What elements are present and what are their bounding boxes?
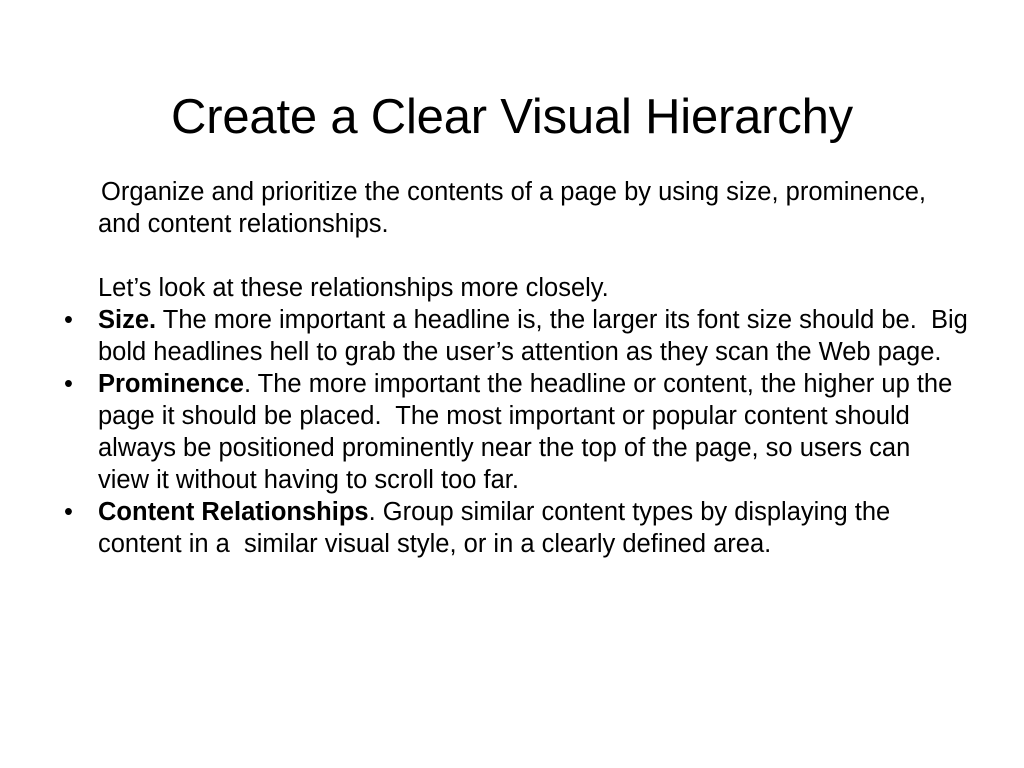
list-item-text: Prominence. The more important the headl… (98, 368, 968, 496)
list-item-term: Content Relationships (98, 498, 369, 526)
slide-body: Organize and prioritize the contents of … (56, 176, 968, 560)
list-item-text: Content Relationships. Group similar con… (98, 496, 968, 560)
list-item-text: Size. The more important a headline is, … (98, 304, 968, 368)
list-item: • Content Relationships. Group similar c… (56, 496, 968, 560)
bullet-point-icon: • (64, 496, 80, 528)
list-item-term: Size. (98, 306, 156, 334)
list-item-body: The more important a headline is, the la… (98, 306, 975, 366)
list-item-term: Prominence (98, 370, 244, 398)
intro-paragraph: Organize and prioritize the contents of … (56, 176, 968, 240)
bullet-point-icon: • (64, 304, 80, 336)
lead-in-paragraph: Let’s look at these relationships more c… (56, 272, 968, 304)
slide-canvas: Create a Clear Visual Hierarchy Organize… (0, 0, 1024, 768)
bullet-list: • Size. The more important a headline is… (56, 304, 968, 560)
bullet-point-icon: • (64, 368, 80, 400)
list-item: • Size. The more important a headline is… (56, 304, 968, 368)
paragraph-spacer (56, 240, 968, 272)
list-item: • Prominence. The more important the hea… (56, 368, 968, 496)
page-title: Create a Clear Visual Hierarchy (0, 89, 1024, 146)
